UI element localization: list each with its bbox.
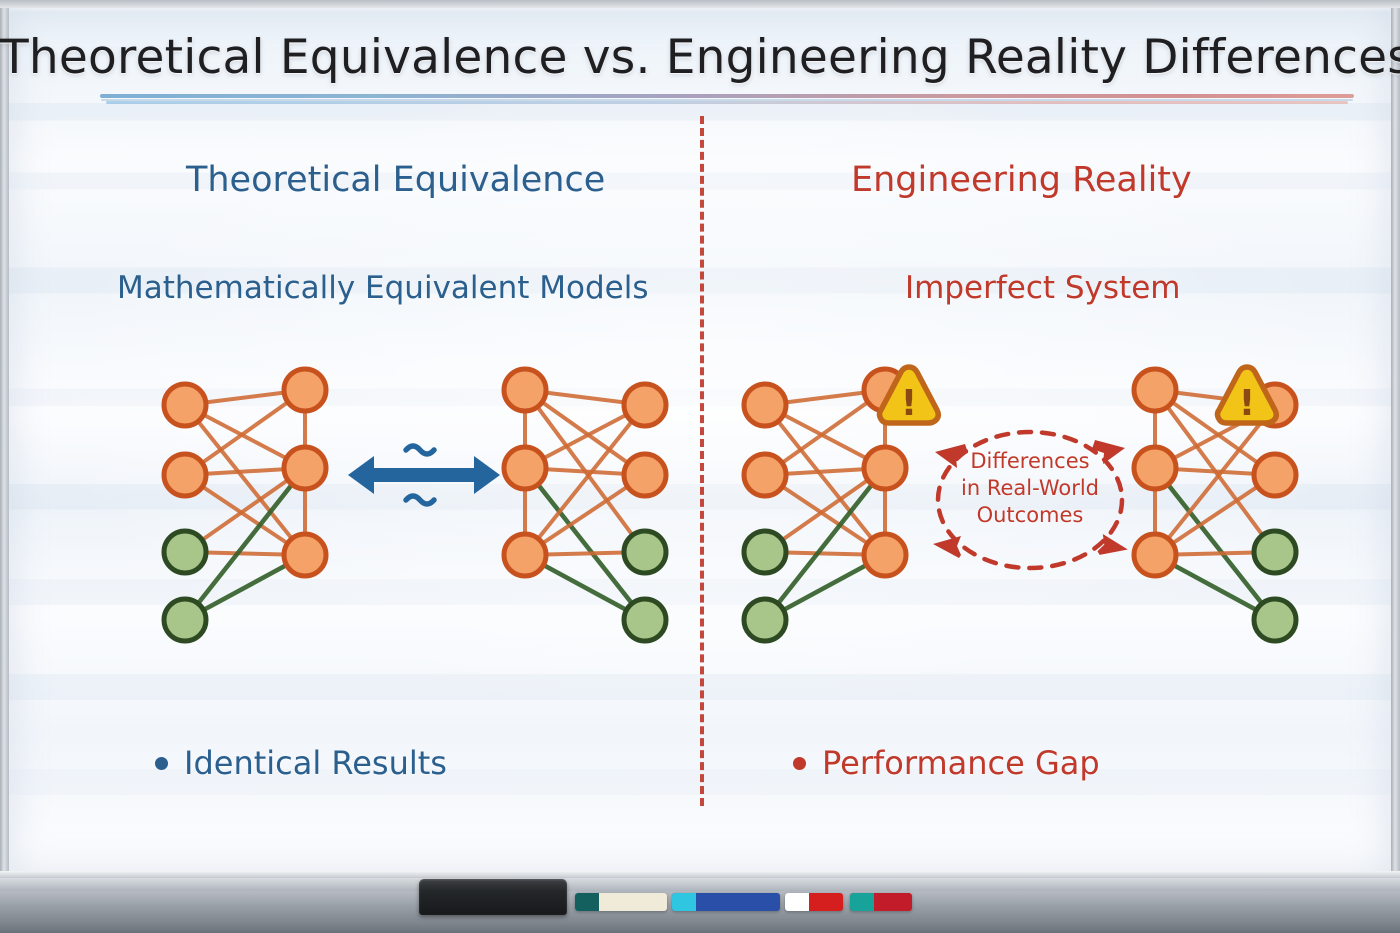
left-bullet-label: Identical Results xyxy=(184,744,447,782)
frame-edge-left xyxy=(0,0,9,873)
marker-pen[interactable] xyxy=(785,893,843,911)
network-theoretical-left xyxy=(145,355,375,669)
network-node-orange xyxy=(744,454,786,496)
network-node-orange xyxy=(284,369,326,411)
network-node-orange xyxy=(1134,534,1176,576)
marker-cap xyxy=(850,893,874,911)
network-node-orange xyxy=(624,384,666,426)
network-node-orange xyxy=(504,534,546,576)
left-column-heading: Theoretical Equivalence xyxy=(186,160,605,200)
network-node-orange xyxy=(864,534,906,576)
network-node-green xyxy=(744,599,786,641)
network-node-orange xyxy=(1134,447,1176,489)
whiteboard-screenshot: Theoretical Equivalence vs. Engineering … xyxy=(0,0,1400,933)
marker-cap xyxy=(672,893,696,911)
network-node-green xyxy=(744,531,786,573)
marker-cap xyxy=(575,893,599,911)
network-node-orange xyxy=(504,369,546,411)
page-title: Theoretical Equivalence vs. Engineering … xyxy=(0,30,1400,85)
differences-line-2: in Real-World xyxy=(925,475,1135,502)
network-node-orange xyxy=(744,384,786,426)
right-bullet-item: Performance Gap xyxy=(793,744,1100,782)
network-node-orange xyxy=(864,447,906,489)
network-node-orange xyxy=(164,454,206,496)
left-column-subheading: Mathematically Equivalent Models xyxy=(117,270,648,306)
network-engineering-left: ! xyxy=(725,355,955,669)
network-node-orange xyxy=(164,384,206,426)
marker-pen[interactable] xyxy=(575,893,667,911)
right-bullet-label: Performance Gap xyxy=(822,744,1100,782)
differences-annotation: Differences in Real-World Outcomes xyxy=(925,448,1135,529)
network-node-orange xyxy=(1254,454,1296,496)
tray-lip xyxy=(0,871,1400,878)
equivalence-arrow-icon xyxy=(344,430,504,520)
marker-pen[interactable] xyxy=(672,893,780,911)
tray-back xyxy=(0,878,1400,891)
network-node-orange xyxy=(284,534,326,576)
title-underline xyxy=(100,94,1354,98)
network-node-orange xyxy=(624,454,666,496)
network-node-orange xyxy=(284,447,326,489)
network-node-orange xyxy=(504,447,546,489)
warning-exclamation: ! xyxy=(1239,383,1255,424)
network-node-orange xyxy=(1134,369,1176,411)
differences-line-1: Differences xyxy=(925,448,1135,475)
title-underline-secondary xyxy=(106,101,1348,104)
network-node-green xyxy=(164,531,206,573)
right-column-subheading: Imperfect System xyxy=(905,270,1180,306)
marker-pen[interactable] xyxy=(850,893,912,911)
bullet-dot-icon xyxy=(155,757,168,770)
bullet-dot-icon xyxy=(793,757,806,770)
network-node-green xyxy=(624,531,666,573)
warning-exclamation: ! xyxy=(901,383,917,424)
eraser[interactable] xyxy=(419,879,567,915)
network-node-green xyxy=(1254,599,1296,641)
right-column-heading: Engineering Reality xyxy=(851,160,1192,200)
warning-triangle-icon: ! xyxy=(1218,367,1277,424)
network-node-green xyxy=(164,599,206,641)
differences-line-3: Outcomes xyxy=(925,502,1135,529)
marker-cap xyxy=(785,893,809,911)
network-engineering-right: ! xyxy=(1115,355,1345,669)
marker-tray xyxy=(0,871,1400,933)
frame-edge-top xyxy=(0,0,1400,8)
network-node-green xyxy=(624,599,666,641)
left-bullet-item: Identical Results xyxy=(155,744,447,782)
network-node-green xyxy=(1254,531,1296,573)
frame-edge-right xyxy=(1391,0,1400,873)
network-theoretical-right xyxy=(485,355,715,669)
